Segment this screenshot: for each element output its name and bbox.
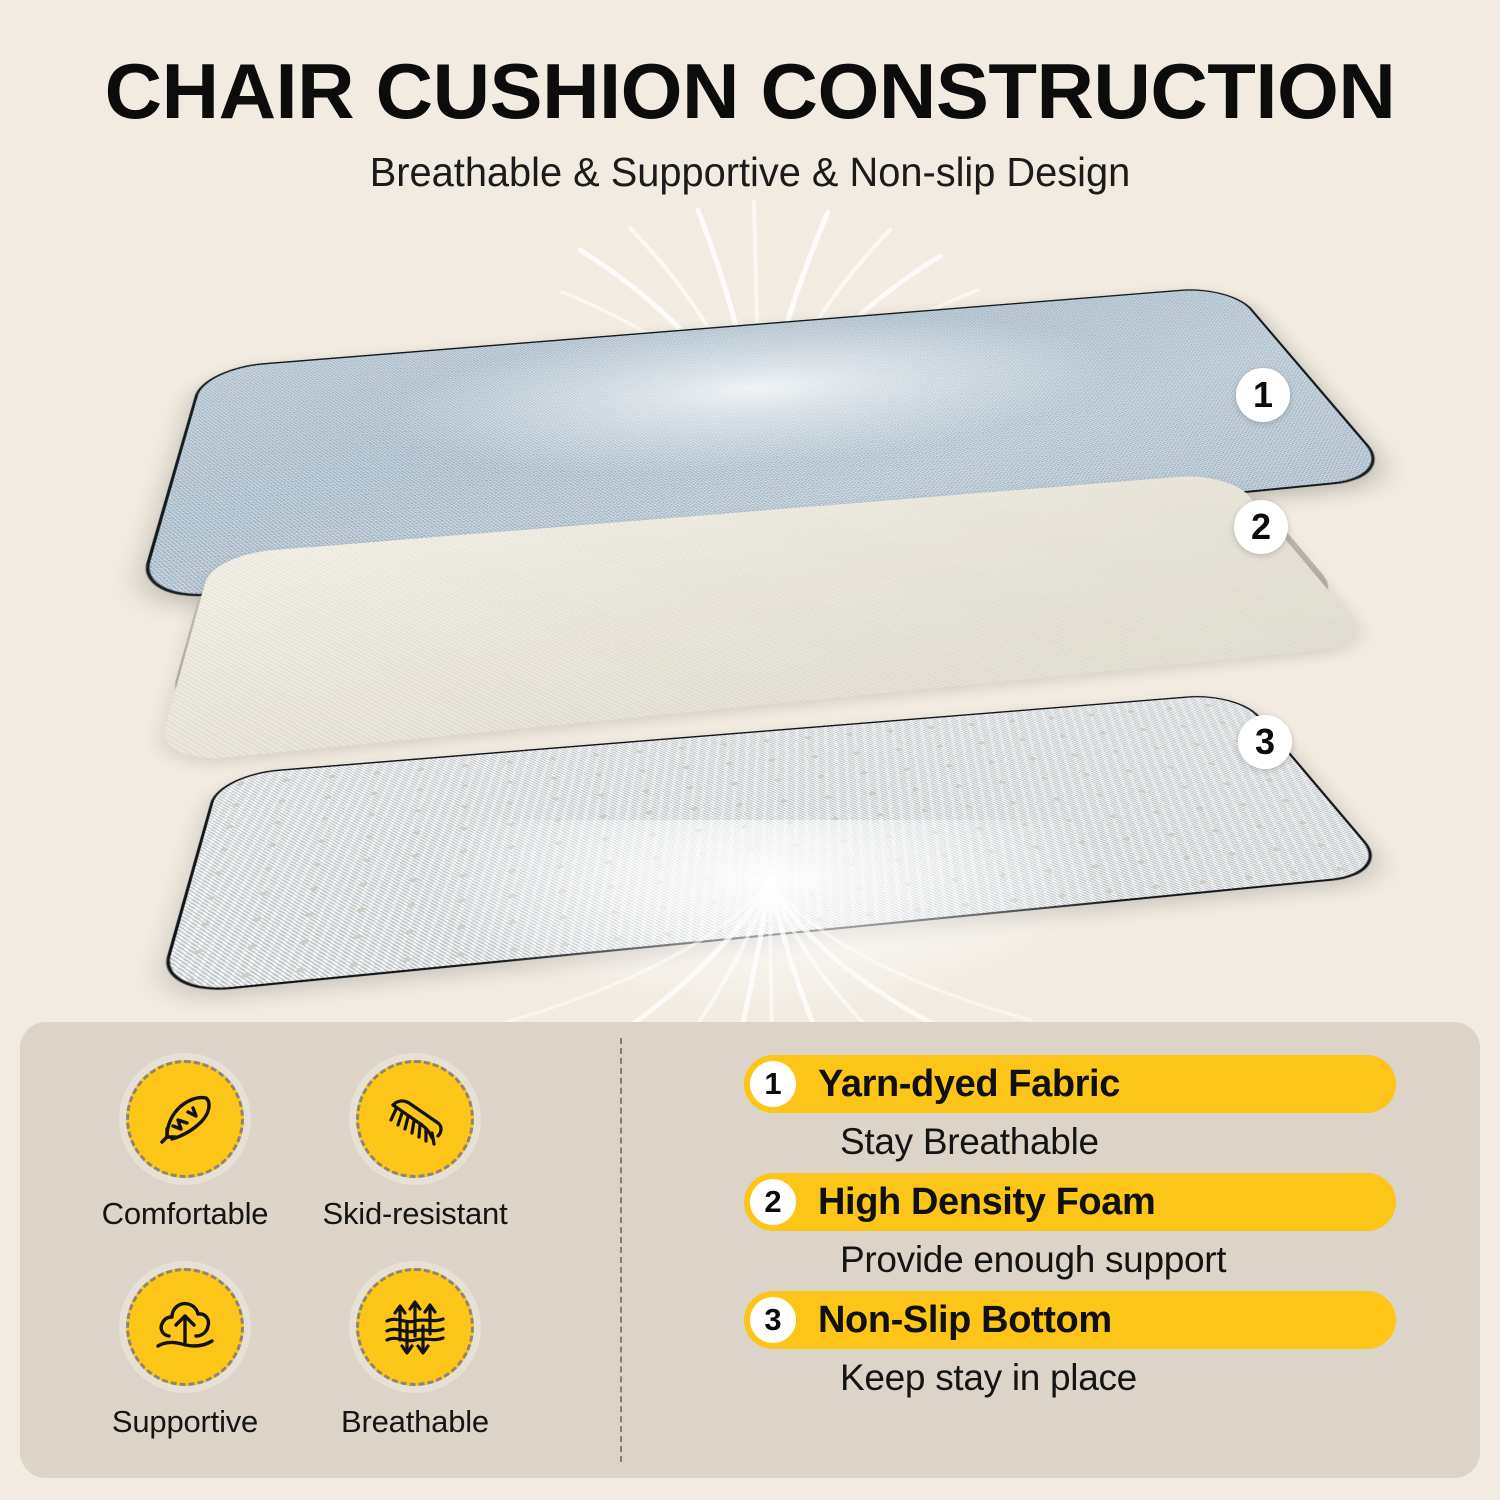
feature-pill: 1 Yarn-dyed Fabric [744, 1055, 1396, 1113]
airflow-waves-icon [356, 1268, 474, 1386]
feature-number-badge: 3 [750, 1297, 796, 1343]
layer-badge-3: 3 [1238, 715, 1292, 769]
feature-title: Non-Slip Bottom [818, 1299, 1112, 1342]
feature-description: Provide enough support [840, 1239, 1424, 1281]
benefit-item-skid-resistant: Skid-resistant [290, 1060, 540, 1232]
feature-row-3: 3 Non-Slip Bottom Keep stay in place [744, 1291, 1424, 1399]
feature-row-1: 1 Yarn-dyed Fabric Stay Breathable [744, 1055, 1424, 1163]
page-subtitle: Breathable & Supportive & Non-slip Desig… [23, 152, 1478, 193]
layer-3-nonslip [212, 642, 1342, 1002]
brush-bristles-icon [356, 1060, 474, 1178]
benefit-label: Comfortable [60, 1196, 310, 1232]
exploded-cushion-diagram [0, 190, 1500, 1000]
feather-icon [126, 1060, 244, 1178]
feature-row-2: 2 High Density Foam Provide enough suppo… [744, 1173, 1424, 1281]
header: CHAIR CUSHION CONSTRUCTION Breathable & … [0, 0, 1500, 193]
feature-number-badge: 2 [750, 1179, 796, 1225]
feature-pill: 3 Non-Slip Bottom [744, 1291, 1396, 1349]
feature-description: Stay Breathable [840, 1121, 1424, 1163]
feature-title: Yarn-dyed Fabric [818, 1063, 1120, 1106]
feature-list: 1 Yarn-dyed Fabric Stay Breathable 2 Hig… [744, 1055, 1424, 1409]
feature-pill: 2 High Density Foam [744, 1173, 1396, 1231]
feature-number-badge: 1 [750, 1061, 796, 1107]
feature-title: High Density Foam [818, 1181, 1155, 1224]
benefit-item-breathable: Breathable [290, 1268, 540, 1440]
layer-badge-1: 1 [1236, 368, 1290, 422]
benefit-item-comfortable: Comfortable [60, 1060, 310, 1232]
benefit-label: Supportive [60, 1404, 310, 1440]
benefit-label: Breathable [290, 1404, 540, 1440]
cloud-up-arrow-icon [126, 1268, 244, 1386]
feature-description: Keep stay in place [840, 1357, 1424, 1399]
layer-badge-2: 2 [1234, 500, 1288, 554]
page-title: CHAIR CUSHION CONSTRUCTION [0, 52, 1500, 130]
benefit-label: Skid-resistant [290, 1196, 540, 1232]
nonslip-surface [156, 692, 1394, 996]
benefit-item-supportive: Supportive [60, 1268, 310, 1440]
infographic-page: CHAIR CUSHION CONSTRUCTION Breathable & … [0, 0, 1500, 1500]
panel-divider [620, 1038, 622, 1462]
